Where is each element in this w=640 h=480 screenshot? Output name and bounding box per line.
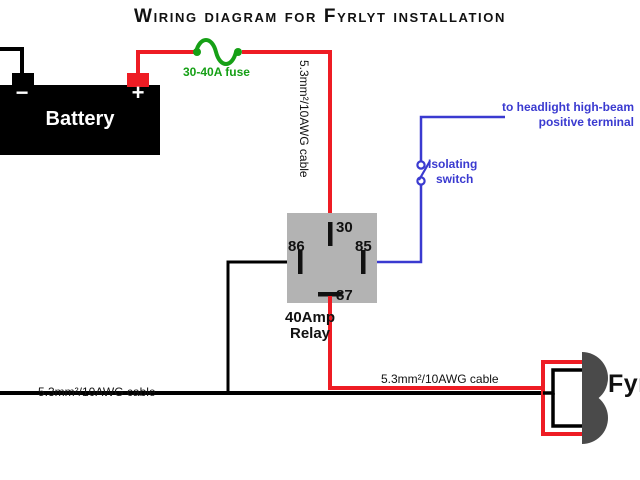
isolating-switch-label-line1: Isolating — [428, 157, 477, 171]
relay-label: 40AmpRelay — [255, 310, 365, 342]
switch-terminal-top-icon — [417, 161, 424, 168]
relay-label-line1: 40Amp — [285, 309, 335, 326]
isolating-switch-label: Isolatingswitch — [428, 157, 477, 187]
switch-to-relay-85-wire — [371, 185, 421, 262]
headlight-feed-wire — [421, 117, 505, 161]
isolating-switch-label-line2: switch — [428, 172, 477, 187]
battery-positive-symbol: + — [120, 82, 156, 104]
fuse-label: 30-40A fuse — [183, 65, 250, 79]
lamp-reflector-lower-icon — [582, 392, 608, 444]
fuse-coil-icon — [196, 40, 236, 64]
diagram-canvas: Wiring diagram for Fyrlyt installation B… — [0, 0, 640, 480]
fused-feed-to-relay-30 — [242, 52, 330, 222]
relay-blade-30 — [328, 222, 333, 246]
cable-label-main-feed: 5.3mm²/10AWG cable — [297, 60, 311, 178]
lamp-brand-label: Fyrl — [608, 370, 640, 399]
page-title: Wiring diagram for Fyrlyt installation — [0, 6, 640, 28]
battery-label: Battery — [0, 108, 160, 131]
fuse-terminal-left-icon — [193, 48, 201, 56]
watermark: 2014 Australian Images PROJECT200 WWW.PR… — [0, 418, 262, 480]
battery-negative-symbol: − — [6, 82, 38, 104]
relay-terminal-85-label: 85 — [355, 238, 372, 255]
cable-label-ground: 5.3mm²/10AWG cable — [38, 385, 156, 399]
cable-label-lamp-feed: 5.3mm²/10AWG cable — [381, 372, 499, 386]
wiring-diagram-graphics — [0, 0, 640, 480]
fuse-terminal-right-icon — [234, 48, 242, 56]
relay-label-line2: Relay — [255, 326, 365, 342]
relay-terminal-87-label: 87 — [336, 287, 353, 304]
headlight-feed-label: to headlight high-beam positive terminal — [494, 100, 634, 130]
relay-terminal-86-label: 86 — [288, 238, 305, 255]
relay-terminal-30-label: 30 — [336, 219, 353, 236]
